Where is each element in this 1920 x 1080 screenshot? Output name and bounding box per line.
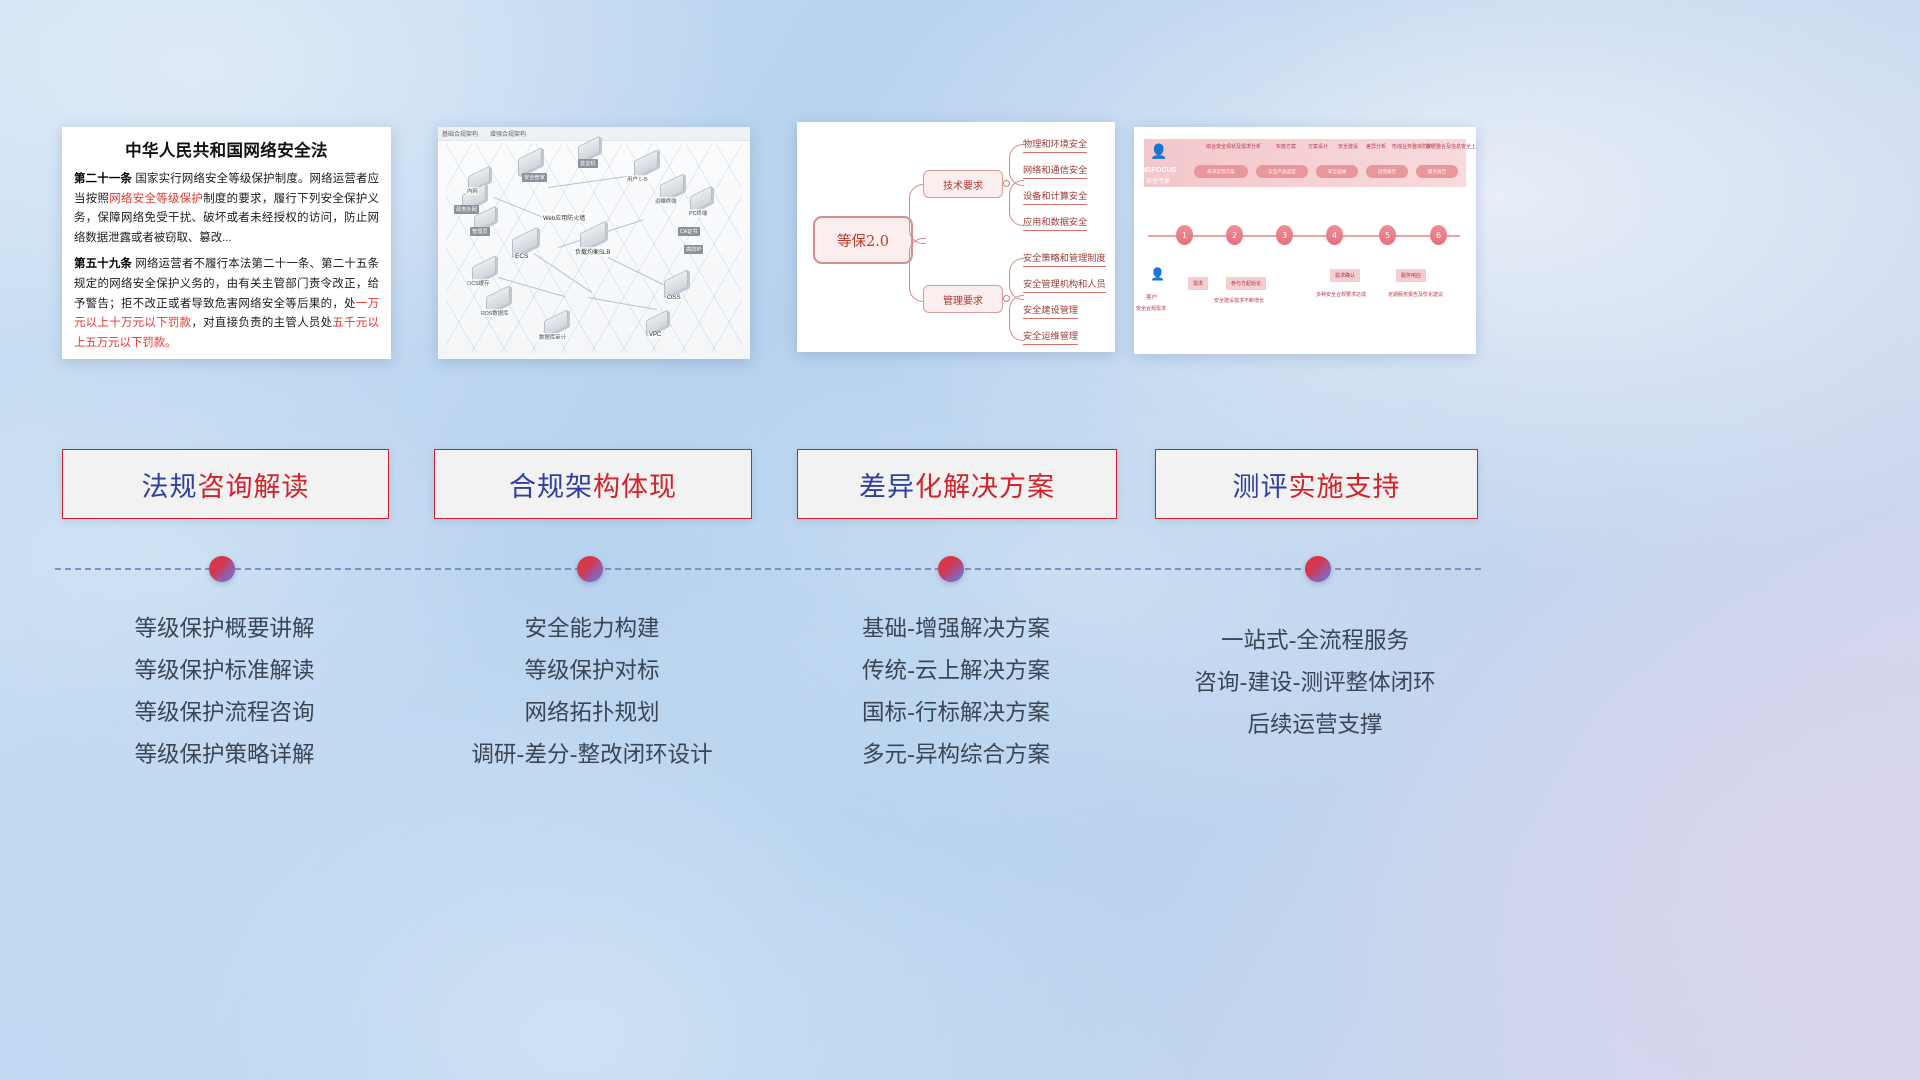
expert-person-icon: 👤 <box>1150 143 1167 160</box>
mindmap-root: 等保2.0 <box>813 216 913 264</box>
roadmap-phase: 运营报告 <box>1366 165 1408 178</box>
banner-text-red: 实施支持 <box>1289 465 1401 504</box>
architecture-node-label: RDS数据库 <box>480 309 510 317</box>
architecture-diagram: 基础合规架构 增强合规架构 <box>438 127 750 359</box>
list-item: 传统-云上解决方案 <box>797 650 1115 692</box>
roadmap-header-pill: 方案设计 <box>1308 143 1328 150</box>
law-article-59-label: 第五十九条 <box>74 258 132 270</box>
list-item: 国标-行标解决方案 <box>797 692 1115 734</box>
list-item: 等级保护流程咨询 <box>62 692 387 734</box>
architecture-node-label: 数据库审计 <box>538 333 567 341</box>
roadmap-phase: 安全运维 <box>1316 165 1358 178</box>
timeline-dot-3[interactable] <box>938 556 964 582</box>
list-item: 等级保护策略详解 <box>62 734 387 776</box>
list-item: 安全能力构建 <box>434 608 750 650</box>
mindmap-connector <box>1009 258 1024 300</box>
roadmap-phase: 服务报告 <box>1416 165 1458 178</box>
roadmap-step: 3 <box>1276 225 1293 245</box>
roadmap-header-pill: 综合安全现状及需求分析 <box>1206 143 1261 150</box>
architecture-tab-enhanced[interactable]: 增强合规架构 <box>490 129 526 138</box>
banner-text-red: 咨询解读 <box>198 465 310 504</box>
list-item: 调研-差分-整改闭环设计 <box>434 734 750 776</box>
roadmap-step: 6 <box>1430 225 1447 245</box>
mindmap-leaf: 安全建设管理 <box>1023 302 1078 319</box>
architecture-node-label: 安全管家 <box>522 173 547 182</box>
roadmap-brand-sub: 安全专家 <box>1146 176 1170 185</box>
timeline-dot-1[interactable] <box>209 556 235 582</box>
architecture-node-label: VPC <box>648 332 662 338</box>
mindmap-leaf: 应用和数据安全 <box>1023 214 1087 231</box>
architecture-node-label: ECS <box>514 253 529 260</box>
roadmap-phase: 解决运营方案 <box>1194 165 1248 178</box>
list-item: 基础-增强解决方案 <box>797 608 1115 650</box>
list-item: 等级保护对标 <box>434 650 750 692</box>
architecture-tab-basic[interactable]: 基础合规架构 <box>442 129 478 138</box>
banner-text-red: 化解决方案 <box>915 465 1055 504</box>
list-item: 多元-异构综合方案 <box>797 734 1115 776</box>
roadmap-header-pill: 差异分析 <box>1366 143 1386 150</box>
roadmap-note: 多种安全合规要求达成 <box>1316 291 1366 298</box>
mindmap-leaf: 安全管理机构和人员 <box>1023 276 1106 293</box>
law-article-21: 第二十一条 国家实行网络安全等级保护制度。网络运营者应当按照网络安全等级保护制度… <box>74 170 379 248</box>
banner-compliance-architecture[interactable]: 合规架构体现 <box>434 449 752 519</box>
thumbnail-card-mindmap[interactable]: 等保2.0 技术要求 物理和环境安全 网络和通信安全 设备和计算安全 应用和数据… <box>797 122 1115 352</box>
list-item: 等级保护标准解读 <box>62 650 387 692</box>
mindmap-branch-dot <box>1003 295 1010 302</box>
architecture-node-label: 负载均衡SLB <box>574 247 611 256</box>
list-item: 一站式-全流程服务 <box>1150 620 1480 662</box>
roadmap-brand: NSFOCUS <box>1142 167 1176 174</box>
thumbnail-card-law[interactable]: 中华人民共和国网络安全法 第二十一条 国家实行网络安全等级保护制度。网络运营者应… <box>62 127 391 359</box>
thumbnail-card-architecture[interactable]: 基础合规架构 增强合规架构 <box>438 127 750 359</box>
architecture-node-label: 运维终端 <box>654 197 678 205</box>
timeline-dashed-line <box>55 568 1481 570</box>
banner-evaluation-support[interactable]: 测评实施支持 <box>1155 449 1478 519</box>
mindmap-branch-technical: 技术要求 <box>923 170 1003 198</box>
roadmap-bottom-tag: 参与方起始论 <box>1226 277 1266 290</box>
roadmap-bottom-tag: 需求 <box>1188 277 1208 290</box>
roadmap-note: 安全建设需求不断增长 <box>1214 297 1264 304</box>
architecture-node-label: 用户 L-B <box>626 175 649 183</box>
roadmap-header-pill: 安全建设 <box>1338 143 1358 150</box>
architecture-node-label: 管理员 <box>470 227 490 236</box>
list-item: 后续运营支撑 <box>1150 704 1480 746</box>
list-item: 等级保护概要讲解 <box>62 608 387 650</box>
list-item: 网络拓扑规划 <box>434 692 750 734</box>
mindmap-branch-management: 管理要求 <box>923 285 1003 313</box>
slide-stage: 中华人民共和国网络安全法 第二十一条 国家实行网络安全等级保护制度。网络运营者应… <box>0 0 1920 1080</box>
timeline-dot-4[interactable] <box>1305 556 1331 582</box>
mindmap-connector <box>1009 180 1024 226</box>
law-title: 中华人民共和国网络安全法 <box>74 137 379 161</box>
law-article-59: 第五十九条 网络运营者不履行本法第二十一条、第二十五条规定的网络安全保护义务的，… <box>74 255 379 353</box>
list-item: 咨询-建设-测评整体闭环 <box>1150 662 1480 704</box>
law-article-21-highlight: 网络安全等级保护 <box>109 193 203 205</box>
customer-person-icon: 👤 <box>1150 267 1165 281</box>
roadmap-diagram: 👤 NSFOCUS 安全专家 综合安全现状及需求分析 实施方案 方案设计 安全建… <box>1134 127 1476 354</box>
architecture-node-label: 高防IP <box>684 245 703 254</box>
roadmap-header-pill: 数据整合及信息安全上层安全资源配置 <box>1426 143 1476 150</box>
mindmap-leaf: 安全策略和管理制度 <box>1023 250 1106 267</box>
roadmap-step: 1 <box>1176 225 1193 245</box>
mindmap-leaf: 安全运维管理 <box>1023 328 1078 345</box>
banner-differentiated-solution[interactable]: 差异化解决方案 <box>797 449 1117 519</box>
roadmap-timeline <box>1148 235 1460 237</box>
law-document: 中华人民共和国网络安全法 第二十一条 国家实行网络安全等级保护制度。网络运营者应… <box>62 127 391 359</box>
column-legal-consulting: 等级保护概要讲解 等级保护标准解读 等级保护流程咨询 等级保护策略详解 <box>62 608 387 776</box>
mindmap: 等保2.0 技术要求 物理和环境安全 网络和通信安全 设备和计算安全 应用和数据… <box>797 122 1115 352</box>
mindmap-leaf: 网络和通信安全 <box>1023 162 1087 179</box>
roadmap-step: 5 <box>1379 225 1396 245</box>
architecture-node-label: PC终端 <box>688 209 708 217</box>
mindmap-branch-dot <box>1003 180 1010 187</box>
architecture-node-label: CA证书 <box>678 227 700 236</box>
roadmap-note: 定期服务报告及优化建议 <box>1388 291 1443 298</box>
architecture-node-label: 堡垒机 <box>578 159 598 168</box>
law-article-21-label: 第二十一条 <box>74 173 132 185</box>
law-article-59-text-b: ，对直接负责的主管人员处 <box>191 317 332 329</box>
architecture-node-label: Web应用防火墙 <box>542 213 586 222</box>
architecture-node-label: OCS缓存 <box>466 279 490 287</box>
mindmap-connector <box>1009 295 1024 341</box>
column-compliance-architecture: 安全能力构建 等级保护对标 网络拓扑规划 调研-差分-整改闭环设计 <box>434 608 750 776</box>
banner-legal-consulting[interactable]: 法规咨询解读 <box>62 449 389 519</box>
mindmap-leaf: 物理和环境安全 <box>1023 136 1087 153</box>
banner-text-red: 构体现 <box>593 465 677 504</box>
banner-text-blue: 法规 <box>142 465 198 504</box>
roadmap-customer-label: 客户 <box>1146 293 1157 301</box>
column-differentiated-solution: 基础-增强解决方案 传统-云上解决方案 国标-行标解决方案 多元-异构综合方案 <box>797 608 1115 776</box>
mindmap-leaf: 设备和计算安全 <box>1023 188 1087 205</box>
roadmap-bottom-tag: 需求确认 <box>1330 269 1360 282</box>
banner-text-blue: 差异 <box>859 465 915 504</box>
roadmap-phase: 安全产品选型 <box>1256 165 1308 178</box>
architecture-node-label: 内网 <box>466 187 479 195</box>
column-evaluation-support: 一站式-全流程服务 咨询-建设-测评整体闭环 后续运营支撑 <box>1150 620 1480 746</box>
architecture-node-label: 政务外网 <box>454 205 479 214</box>
architecture-node-label: OSS <box>666 294 682 301</box>
roadmap-step: 2 <box>1226 225 1243 245</box>
thumbnail-card-roadmap[interactable]: 👤 NSFOCUS 安全专家 综合安全现状及需求分析 实施方案 方案设计 安全建… <box>1134 127 1476 354</box>
banner-text-blue: 测评 <box>1233 465 1289 504</box>
roadmap-note: 安全合规需求 <box>1136 305 1166 312</box>
timeline-dot-2[interactable] <box>577 556 603 582</box>
banner-text-blue: 合规架 <box>509 465 593 504</box>
roadmap-header-pill: 实施方案 <box>1276 143 1296 150</box>
roadmap-step: 4 <box>1326 225 1343 245</box>
roadmap-bottom-tag: 服务响应 <box>1396 269 1426 282</box>
